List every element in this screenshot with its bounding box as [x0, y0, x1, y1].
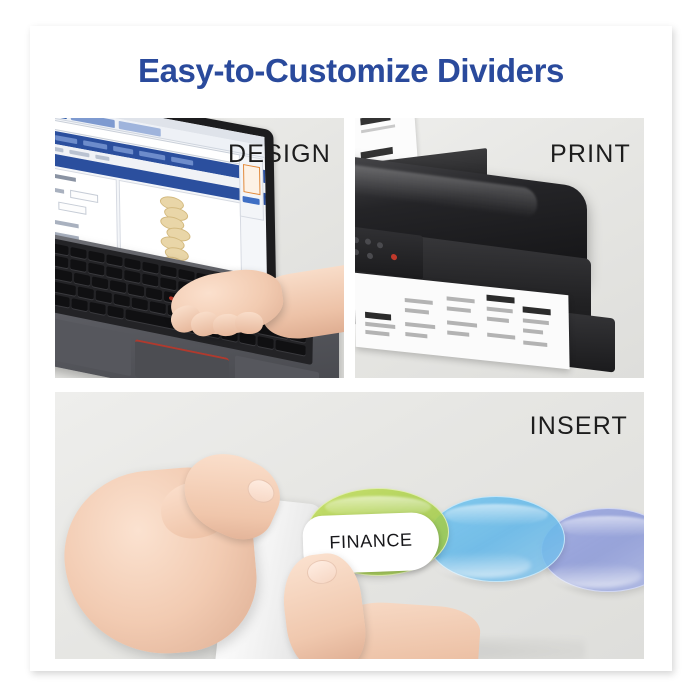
panel-label-print: PRINT [550, 140, 631, 169]
printer-button [355, 237, 359, 244]
browser-tab [55, 118, 67, 119]
panel-label-design: DESIGN [228, 140, 331, 169]
printer-power-button [391, 254, 397, 261]
product-image: Easy-to-Customize Dividers [0, 0, 700, 700]
panel-insert: FINANCE INSERT [55, 392, 644, 659]
printer-button [377, 242, 383, 249]
panel-print: PRINT [355, 118, 644, 378]
divider-label-text: FINANCE [303, 529, 440, 555]
product-card: Easy-to-Customize Dividers [30, 26, 672, 671]
panel-label-insert: INSERT [530, 412, 628, 441]
hand-typing [157, 266, 344, 362]
page-title: Easy-to-Customize Dividers [30, 52, 672, 90]
printer-button [365, 238, 371, 245]
panel-design: DESIGN [55, 118, 344, 378]
printer-button [355, 249, 359, 256]
divider-label-wrap: FINANCE [303, 514, 439, 572]
printer-button [367, 253, 373, 260]
